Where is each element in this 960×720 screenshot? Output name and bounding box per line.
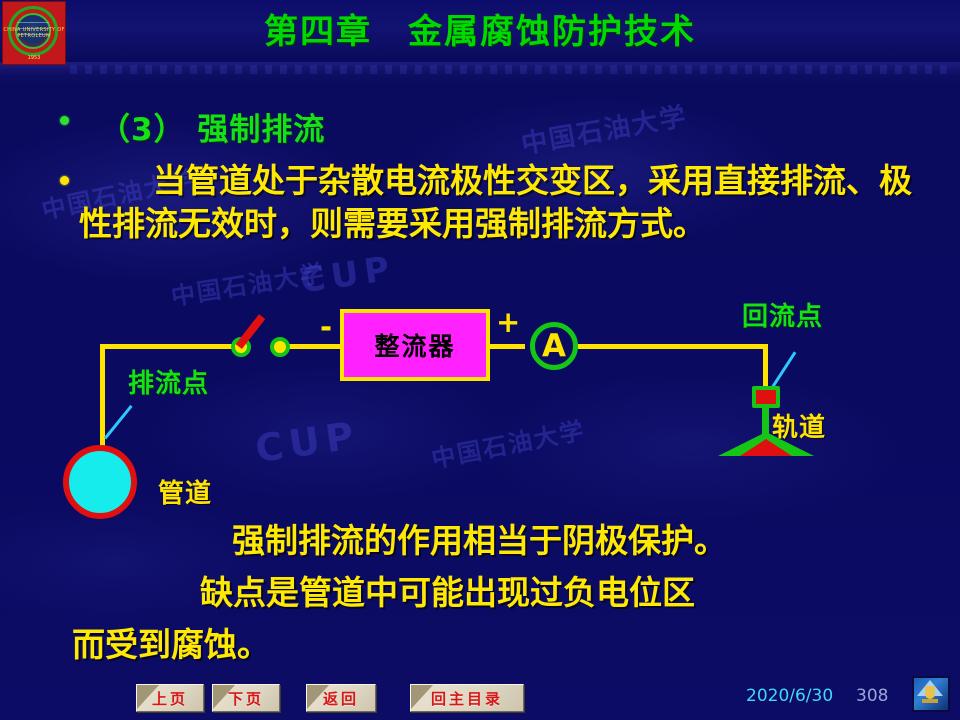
prev-page-button[interactable]: 上页 (136, 684, 204, 712)
rail-connection-box (752, 386, 780, 408)
slide-date: 2020/6/30 (746, 686, 833, 706)
trophy-cup-shape (925, 686, 935, 699)
back-button-label: 返回 (323, 688, 359, 709)
return-point-label: 回流点 (742, 296, 823, 333)
positive-terminal-sign: + (496, 308, 520, 337)
body-paragraph: 当管道处于杂散电流极性交变区，采用直接排流、极性排流无效时，则需要采用强制排流方… (79, 160, 924, 246)
university-logo: CHINA UNIVERSITY OF PETROLEUM 1953 (2, 1, 66, 65)
wire-segment-rectifier-to-ammeter (490, 344, 525, 349)
slide-page-number: 308 (856, 686, 888, 706)
prev-page-button-label: 上页 (152, 688, 188, 709)
pipeline-circle (63, 445, 137, 519)
conclusion-line-3: 而受到腐蚀。 (72, 624, 270, 667)
decorative-trophy-icon (912, 676, 950, 712)
rectifier-label: 整流器 (374, 327, 455, 363)
button-corner-icon (411, 685, 433, 709)
slide-canvas: 中国石油大学 中国石油大学 中国石油大学 CUP CUP 中国石油大学 第四章 … (0, 0, 960, 720)
conclusion-line-2: 缺点是管道中可能出现过负电位区 (200, 572, 695, 615)
rectifier-box: 整流器 (340, 309, 490, 381)
pipeline-label: 管道 (158, 473, 212, 510)
next-page-button[interactable]: 下页 (212, 684, 280, 712)
slide-footer: 上页 下页 返回 回主目录 2020/6/30 308 (0, 664, 960, 720)
main-menu-button[interactable]: 回主目录 (410, 684, 524, 712)
section-heading: （3） 强制排流 (99, 104, 325, 149)
back-button[interactable]: 返回 (306, 684, 376, 712)
wire-segment-top-left (100, 344, 235, 349)
ammeter-symbol: A (530, 322, 578, 370)
wire-segment-right-vertical (763, 344, 768, 390)
wire-segment-ammeter-to-rail (578, 344, 768, 349)
logo-globe-line (17, 22, 49, 23)
rail-label: 轨道 (772, 407, 826, 444)
ammeter-label: A (542, 328, 566, 364)
heading-bullet-row: （3） 强制排流 (60, 104, 325, 149)
logo-seal-text: CHINA UNIVERSITY OF PETROLEUM (3, 27, 65, 39)
switch-node-right[interactable] (270, 337, 290, 357)
trophy-base-shape (922, 699, 938, 703)
paragraph-bullet-row: 当管道处于杂散电流极性交变区，采用直接排流、极性排流无效时，则需要采用强制排流方… (60, 160, 924, 246)
negative-terminal-sign: - (320, 313, 332, 342)
main-menu-button-label: 回主目录 (431, 688, 503, 709)
bullet-dot-icon (60, 116, 69, 125)
logo-seal-year: 1953 (3, 55, 65, 61)
conclusion-line-1: 强制排流的作用相当于阴极保护。 (232, 520, 727, 563)
bullet-dot-icon (60, 176, 69, 185)
next-page-button-label: 下页 (228, 688, 264, 709)
drain-point-label: 排流点 (128, 363, 209, 400)
